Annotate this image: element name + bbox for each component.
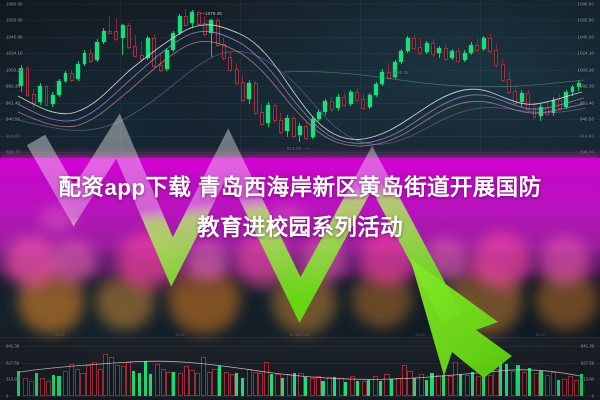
headline-line-2: 教育进校园系列活动 xyxy=(197,215,403,240)
banner-image: 1086.801065.901045.001024.101003.20982.3… xyxy=(0,0,600,400)
headline-text: 配资app下载 青岛西海岸新区黄岛街道开展国防教育进校园系列活动 xyxy=(0,168,600,248)
headline-line-1: 配资app下载 青岛西海岸新区黄岛街道开展国防 xyxy=(59,175,542,200)
